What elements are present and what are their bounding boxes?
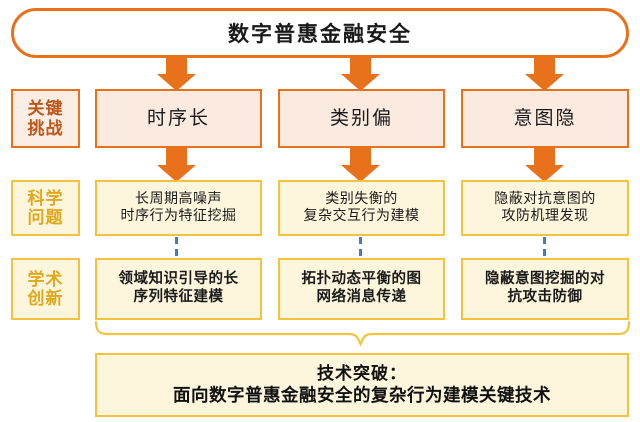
innovation-text-3-line2: 抗攻击防御 xyxy=(508,289,583,307)
arrow-title-to-challenge-1 xyxy=(157,58,196,91)
diagram-canvas: 数字普惠金融安全 关键 挑战 xyxy=(0,0,640,422)
conclusion-line1: 技术突破： xyxy=(317,363,407,384)
arrow-challenge-to-problem-2 xyxy=(341,148,380,182)
curly-brace xyxy=(96,322,629,344)
row-label-line1: 关键 xyxy=(28,99,64,118)
problem-text-1-line2: 时序行为特征挖掘 xyxy=(121,208,237,225)
problem-text-2-line2: 复杂交互行为建模 xyxy=(304,208,420,225)
row-label-key-challenges: 关键 挑战 xyxy=(11,89,80,148)
innovation-box-1: 领域知识引导的长 序列特征建模 xyxy=(95,258,262,320)
challenge-box-2: 类别偏 xyxy=(278,89,445,148)
row-label-scientific-problems: 科学 问题 xyxy=(11,180,80,236)
problem-text-3-line1: 隐蔽对抗意图的 xyxy=(494,191,596,208)
diagram-title-text: 数字普惠金融安全 xyxy=(228,18,412,48)
problem-text-2-line1: 类别失衡的 xyxy=(325,191,398,208)
row-label-line2: 挑战 xyxy=(28,119,64,138)
problem-text-1-line1: 长周期高噪声 xyxy=(135,191,222,208)
arrow-challenge-to-problem-3 xyxy=(525,148,564,182)
challenge-box-1: 时序长 xyxy=(95,89,262,148)
challenge-text-1: 时序长 xyxy=(147,107,210,130)
arrow-challenge-to-problem-1 xyxy=(157,148,196,182)
arrow-title-to-challenge-2 xyxy=(341,58,380,91)
problem-box-2: 类别失衡的 复杂交互行为建模 xyxy=(278,180,445,236)
diagram-title-box: 数字普惠金融安全 xyxy=(11,8,629,58)
innovation-box-2: 拓扑动态平衡的图 网络消息传递 xyxy=(278,258,445,320)
row-label-line1: 学术 xyxy=(28,270,64,289)
innovation-box-3: 隐蔽意图挖掘的对 抗攻击防御 xyxy=(461,258,629,320)
problem-text-3-line2: 攻防机理发现 xyxy=(502,208,589,225)
innovation-text-1-line2: 序列特征建模 xyxy=(134,289,224,307)
challenge-text-3: 意图隐 xyxy=(513,107,576,130)
innovation-text-2-line1: 拓扑动态平衡的图 xyxy=(302,271,422,289)
innovation-text-3-line1: 隐蔽意图挖掘的对 xyxy=(485,271,605,289)
row-label-line2: 问题 xyxy=(28,208,64,227)
innovation-text-1-line1: 领域知识引导的长 xyxy=(119,271,239,289)
row-label-line2: 创新 xyxy=(28,289,64,308)
conclusion-box: 技术突破： 面向数字普惠金融安全的复杂行为建模关键技术 xyxy=(95,353,629,417)
problem-box-3: 隐蔽对抗意图的 攻防机理发现 xyxy=(461,180,629,236)
innovation-text-2-line2: 网络消息传递 xyxy=(317,289,407,307)
conclusion-line2: 面向数字普惠金融安全的复杂行为建模关键技术 xyxy=(173,385,551,407)
arrow-title-to-challenge-3 xyxy=(525,58,564,91)
challenge-box-3: 意图隐 xyxy=(461,89,629,148)
challenge-text-2: 类别偏 xyxy=(330,107,393,130)
problem-box-1: 长周期高噪声 时序行为特征挖掘 xyxy=(95,180,262,236)
row-label-academic-innovation: 学术 创新 xyxy=(11,258,80,320)
row-label-line1: 科学 xyxy=(28,189,64,208)
